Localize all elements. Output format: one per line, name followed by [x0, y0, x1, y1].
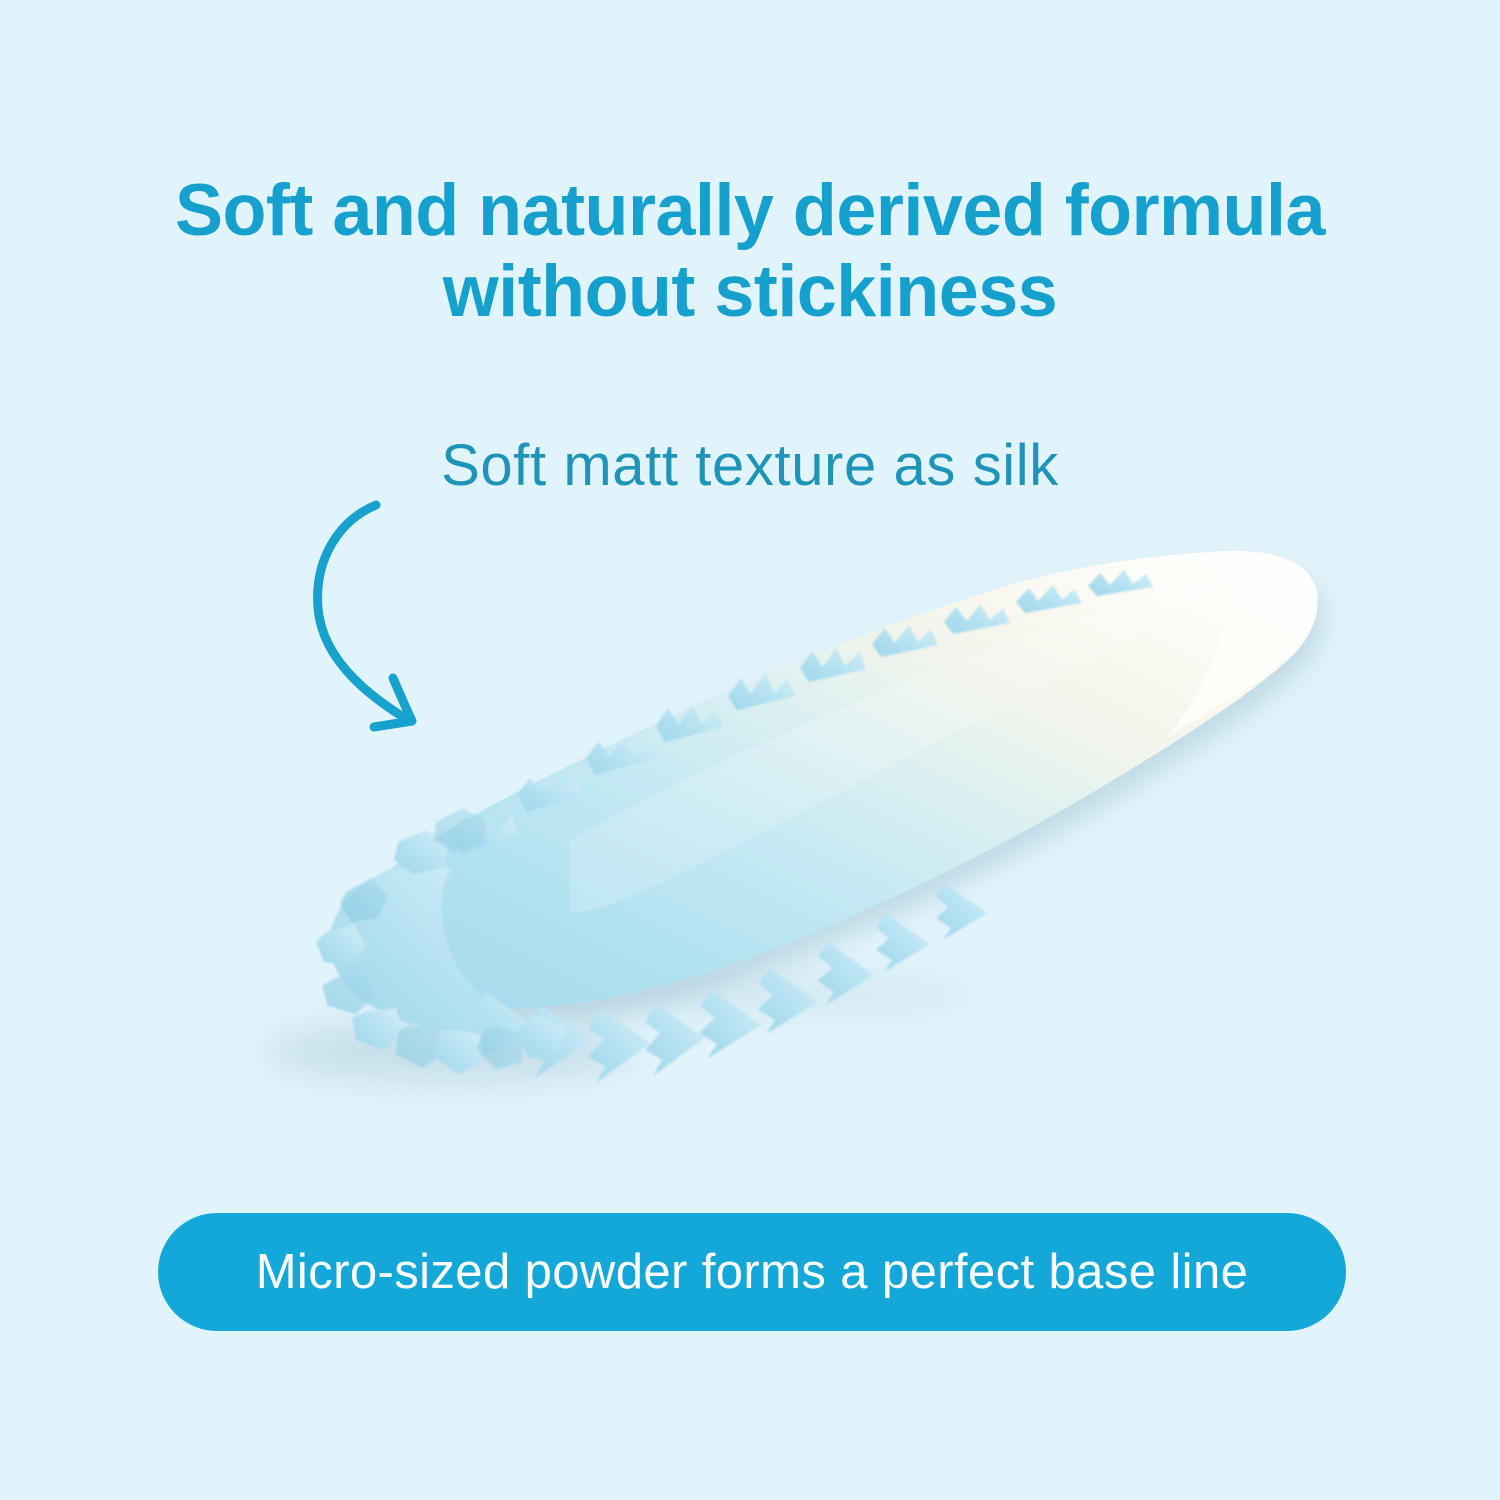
product-feature-card: Soft and naturally derived formula witho… [0, 0, 1500, 1500]
page-title: Soft and naturally derived formula witho… [11, 170, 1489, 332]
cream-swatch-image [150, 540, 1370, 1120]
cream-swatch-graphic [150, 540, 1370, 1120]
banner-label: Micro-sized powder forms a perfect base … [256, 1248, 1249, 1297]
feature-banner: Micro-sized powder forms a perfect base … [158, 1213, 1346, 1331]
feature-subtitle: Soft matt texture as silk [0, 433, 1500, 499]
